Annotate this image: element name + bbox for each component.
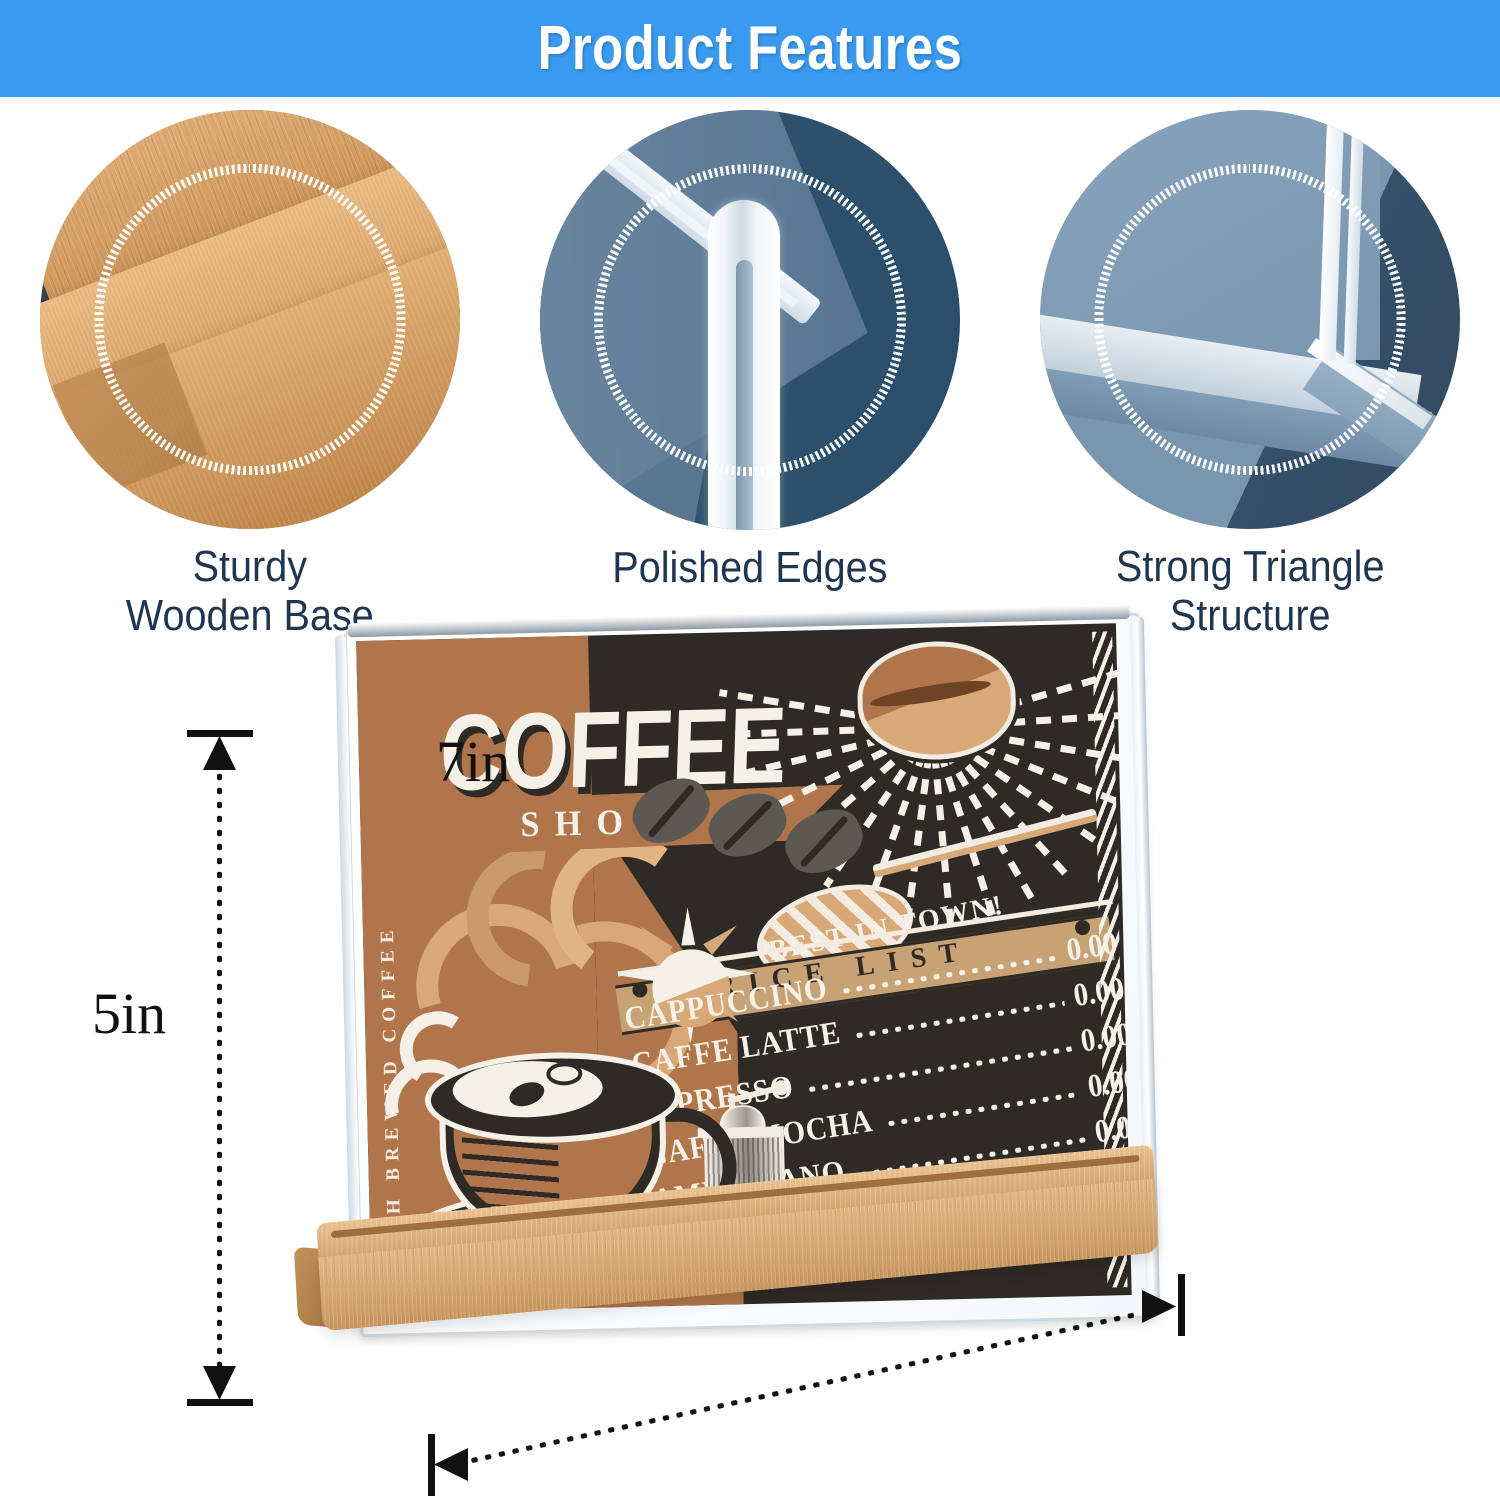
feature-caption-1-line1: Sturdy xyxy=(126,543,374,591)
acrylic-post-slot xyxy=(736,260,753,530)
product-photo-stage: 5in FRESH BREWED COFFEE COFFEE SHOP xyxy=(0,600,1500,1500)
height-dimension-line xyxy=(190,712,250,1424)
dimension-cap-right xyxy=(1178,1274,1185,1336)
feature-image-wrapper-3 xyxy=(1040,110,1460,529)
dimension-arrow-down-icon xyxy=(203,1366,236,1400)
dimension-cap-left xyxy=(428,1434,435,1496)
acrylic-top-face xyxy=(540,110,868,508)
polished-edge-photo xyxy=(540,110,960,530)
feature-strong-triangle-structure: Strong Triangle Structure xyxy=(1000,110,1500,640)
dimension-dotted-line xyxy=(217,756,222,1384)
page-title: Product Features xyxy=(538,13,963,84)
width-dimension-label: 7in xyxy=(436,728,510,795)
feature-caption-2: Polished Edges xyxy=(612,544,887,592)
triangle-structure-photo xyxy=(1040,110,1460,529)
feature-caption-2-line1: Polished Edges xyxy=(612,544,887,592)
wooden-base-photo xyxy=(40,110,460,529)
width-dimension-line xyxy=(404,1280,1204,1500)
feature-caption-3-line1: Strong Triangle xyxy=(1116,543,1385,591)
product-features-banner: Product Features xyxy=(0,0,1500,97)
dimension-arrow-right-icon xyxy=(1142,1290,1176,1323)
feature-highlights-row: Sturdy Wooden Base Polished Edges xyxy=(0,110,1500,640)
feature-image-wrapper-2 xyxy=(540,110,960,530)
dimension-cap-bottom xyxy=(187,1399,253,1406)
height-dimension-label: 5in xyxy=(92,980,166,1047)
feature-polished-edges: Polished Edges xyxy=(500,110,1000,640)
feature-sturdy-wooden-base: Sturdy Wooden Base xyxy=(0,110,500,640)
feature-image-wrapper-1 xyxy=(40,110,460,529)
dimension-cap-top xyxy=(187,730,253,737)
dimension-dotted-line xyxy=(453,1312,1138,1467)
